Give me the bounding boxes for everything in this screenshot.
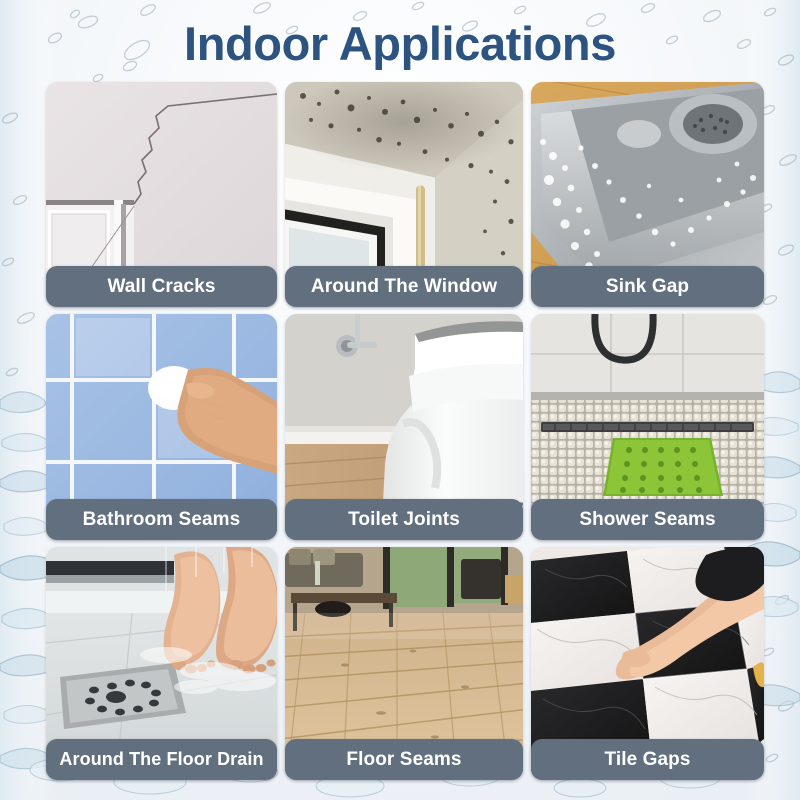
- application-card[interactable]: Floor Seams: [285, 547, 523, 780]
- card-label: Shower Seams: [531, 499, 764, 540]
- card-label: Sink Gap: [531, 266, 764, 307]
- card-label: Floor Seams: [285, 739, 523, 780]
- card-label: Toilet Joints: [285, 499, 523, 540]
- card-label: Around The Floor Drain: [46, 739, 277, 780]
- application-card[interactable]: Around The Window: [285, 82, 523, 307]
- header: Indoor Applications: [0, 8, 800, 78]
- application-card[interactable]: Toilet Joints: [285, 314, 523, 540]
- application-card[interactable]: Tile Gaps: [531, 547, 764, 780]
- card-label: Wall Cracks: [46, 266, 277, 307]
- card-label: Tile Gaps: [531, 739, 764, 780]
- card-label: Around The Window: [285, 266, 523, 307]
- application-card[interactable]: Bathroom Seams: [46, 314, 277, 540]
- application-card[interactable]: Sink Gap: [531, 82, 764, 307]
- card-label: Bathroom Seams: [46, 499, 277, 540]
- application-card[interactable]: Wall Cracks: [46, 82, 277, 307]
- applications-grid: Wall Cracks: [46, 82, 756, 784]
- application-card[interactable]: Around The Floor Drain: [46, 547, 277, 780]
- page-title: Indoor Applications: [184, 16, 616, 71]
- application-card[interactable]: Shower Seams: [531, 314, 764, 540]
